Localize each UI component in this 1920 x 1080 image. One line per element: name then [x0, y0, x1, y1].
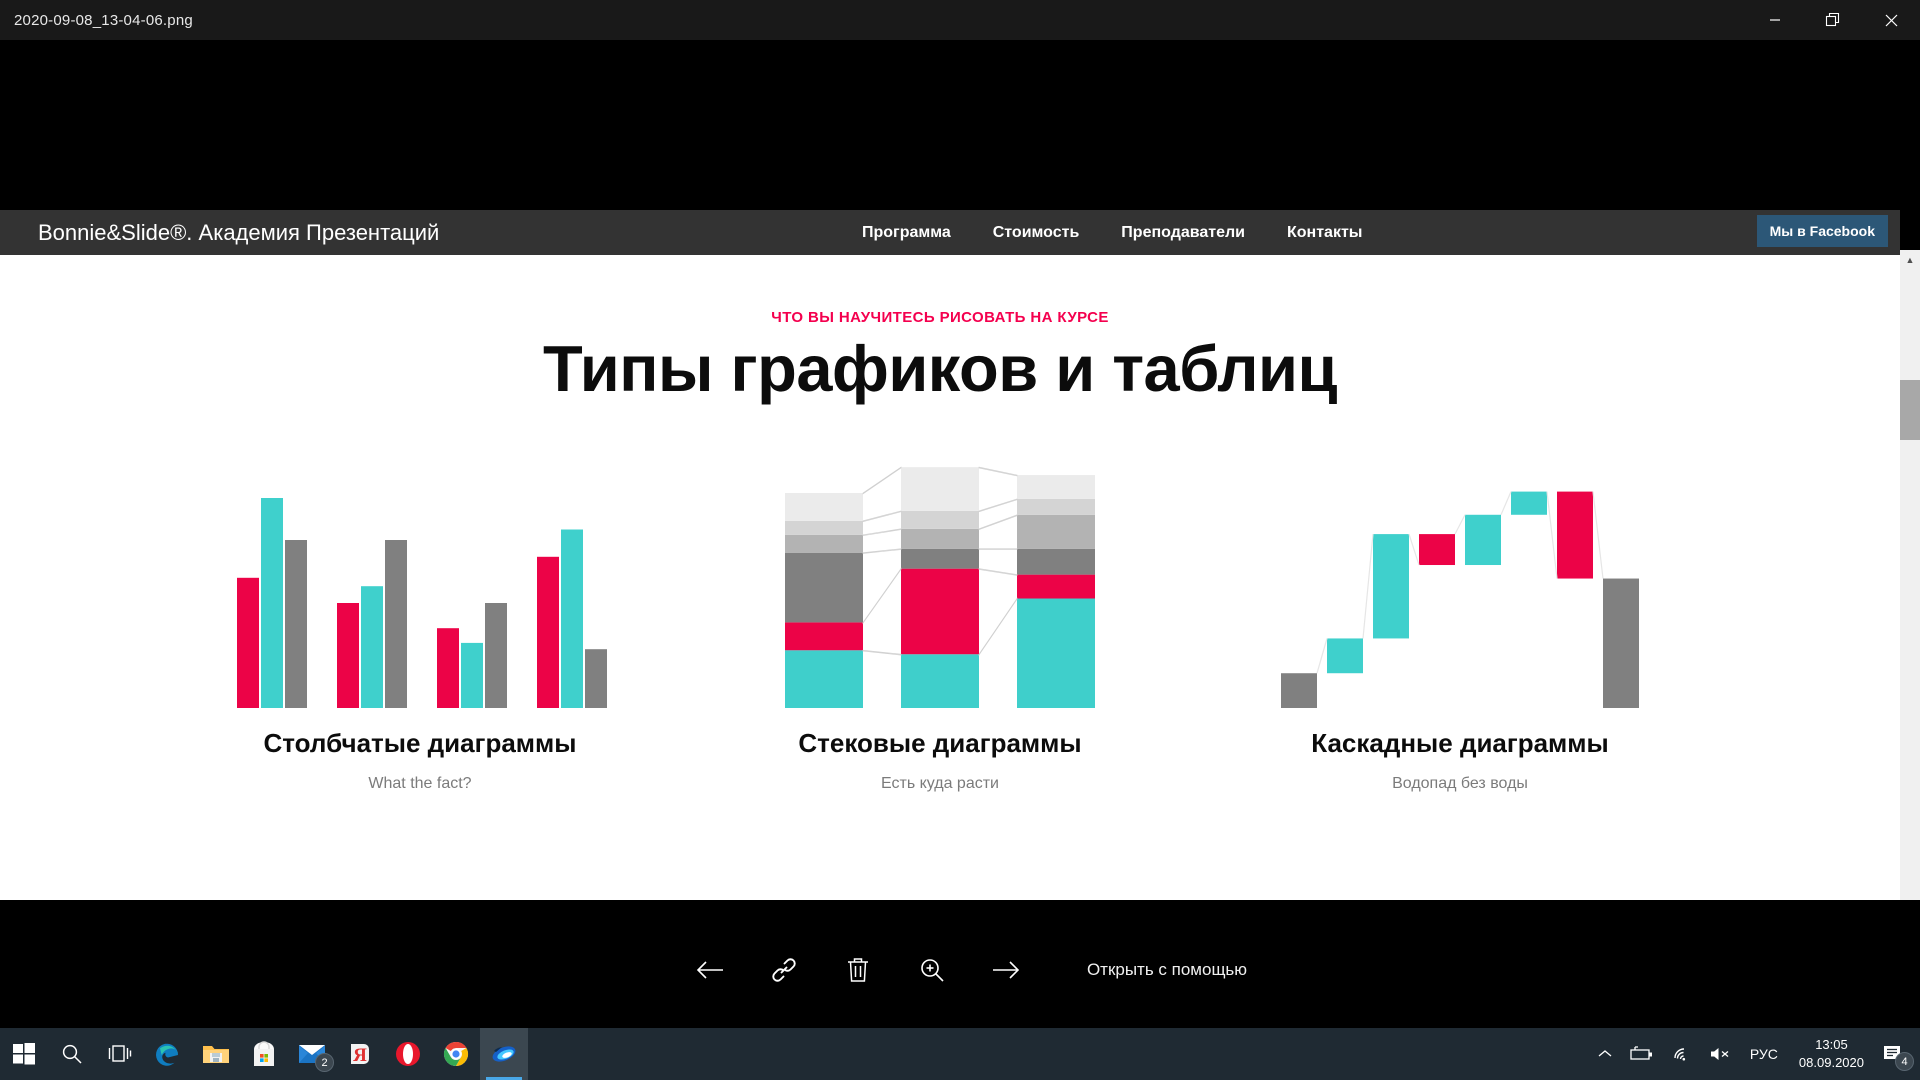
clock[interactable]: 13:05 08.09.2020	[1787, 1028, 1876, 1080]
mail-badge: 2	[315, 1053, 334, 1072]
task-view-icon[interactable]	[96, 1028, 144, 1080]
search-icon[interactable]	[48, 1028, 96, 1080]
scroll-up-icon[interactable]: ▲	[1900, 250, 1920, 270]
window-titlebar: 2020-09-08_13-04-06.png	[0, 0, 1920, 40]
window-controls	[1746, 0, 1920, 40]
nav-item-stoimost[interactable]: Стоимость	[993, 224, 1080, 242]
photos-icon[interactable]	[480, 1028, 528, 1080]
nav-item-prepodavateli[interactable]: Преподаватели	[1121, 224, 1245, 242]
grouped-bar-chart	[210, 470, 630, 710]
show-hidden-icons-icon[interactable]	[1589, 1028, 1621, 1080]
open-with-button[interactable]: Открыть с помощью	[1087, 960, 1247, 980]
page-scrollbar[interactable]: ▲	[1900, 250, 1920, 900]
viewer-toolbar: Открыть с помощью	[0, 900, 1920, 1040]
window-title: 2020-09-08_13-04-06.png	[14, 12, 193, 29]
zoom-in-icon[interactable]	[895, 933, 969, 1007]
close-button[interactable]	[1862, 0, 1920, 40]
site-navigation: Программа Стоимость Преподаватели Контак…	[862, 210, 1362, 255]
clock-date: 08.09.2020	[1799, 1054, 1864, 1072]
photo-viewer: Bonnie&Slide®. Академия Презентаций Прог…	[0, 40, 1920, 1040]
section-eyebrow: ЧТО ВЫ НАУЧИТЕСЬ РИСОВАТЬ НА КУРСЕ	[0, 309, 1880, 326]
displayed-image[interactable]: Bonnie&Slide®. Академия Презентаций Прог…	[0, 210, 1900, 900]
mail-icon[interactable]: 2	[288, 1028, 336, 1080]
clock-time: 13:05	[1815, 1036, 1848, 1054]
site-header: Bonnie&Slide®. Академия Презентаций Прог…	[0, 210, 1900, 255]
card-stacked-charts: Стековые диаграммы Есть куда расти	[730, 470, 1150, 793]
volume-muted-icon[interactable]	[1701, 1028, 1741, 1080]
yandex-browser-icon[interactable]: Я	[336, 1028, 384, 1080]
notification-badge: 4	[1895, 1052, 1914, 1071]
stacked-bar-chart	[730, 470, 1150, 710]
card-subtitle-bar: What the fact?	[210, 775, 630, 793]
wifi-icon[interactable]	[1663, 1028, 1701, 1080]
page-content: ЧТО ВЫ НАУЧИТЕСЬ РИСОВАТЬ НА КУРСЕ Типы …	[0, 255, 1880, 855]
forward-button[interactable]	[969, 933, 1043, 1007]
system-tray: РУС 13:05 08.09.2020 4	[1589, 1028, 1920, 1080]
microsoft-store-icon[interactable]	[240, 1028, 288, 1080]
facebook-button[interactable]: Мы в Facebook	[1757, 215, 1888, 247]
waterfall-chart	[1250, 470, 1670, 710]
figure-stacked-bar	[730, 470, 1150, 710]
language-indicator[interactable]: РУС	[1741, 1028, 1787, 1080]
link-icon[interactable]	[747, 933, 821, 1007]
battery-icon[interactable]	[1621, 1028, 1663, 1080]
scrollbar-thumb[interactable]	[1900, 380, 1920, 440]
notifications-icon[interactable]: 4	[1876, 1028, 1916, 1080]
nav-item-programma[interactable]: Программа	[862, 224, 951, 242]
card-bar-charts: Столбчатые диаграммы What the fact?	[210, 470, 630, 793]
chrome-icon[interactable]	[432, 1028, 480, 1080]
restore-button[interactable]	[1804, 0, 1862, 40]
figure-grouped-bar	[210, 470, 630, 710]
delete-icon[interactable]	[821, 933, 895, 1007]
card-title-bar: Столбчатые диаграммы	[210, 728, 630, 759]
nav-item-kontakty[interactable]: Контакты	[1287, 224, 1362, 242]
opera-icon[interactable]	[384, 1028, 432, 1080]
figure-waterfall	[1250, 470, 1670, 710]
card-subtitle-stacked: Есть куда расти	[730, 775, 1150, 793]
page-title: Типы графиков и таблиц	[0, 331, 1880, 406]
start-button[interactable]	[0, 1028, 48, 1080]
card-title-stacked: Стековые диаграммы	[730, 728, 1150, 759]
minimize-button[interactable]	[1746, 0, 1804, 40]
svg-text:Я: Я	[353, 1045, 367, 1066]
card-subtitle-waterfall: Водопад без воды	[1250, 775, 1670, 793]
site-logo[interactable]: Bonnie&Slide®. Академия Презентаций	[38, 220, 439, 246]
windows-taskbar: 2 Я	[0, 1028, 1920, 1080]
card-waterfall-charts: Каскадные диаграммы Водопад без воды	[1250, 470, 1670, 793]
back-button[interactable]	[673, 933, 747, 1007]
file-explorer-icon[interactable]	[192, 1028, 240, 1080]
card-title-waterfall: Каскадные диаграммы	[1250, 728, 1670, 759]
chart-cards: Столбчатые диаграммы What the fact? Стек…	[0, 470, 1880, 793]
edge-icon[interactable]	[144, 1028, 192, 1080]
